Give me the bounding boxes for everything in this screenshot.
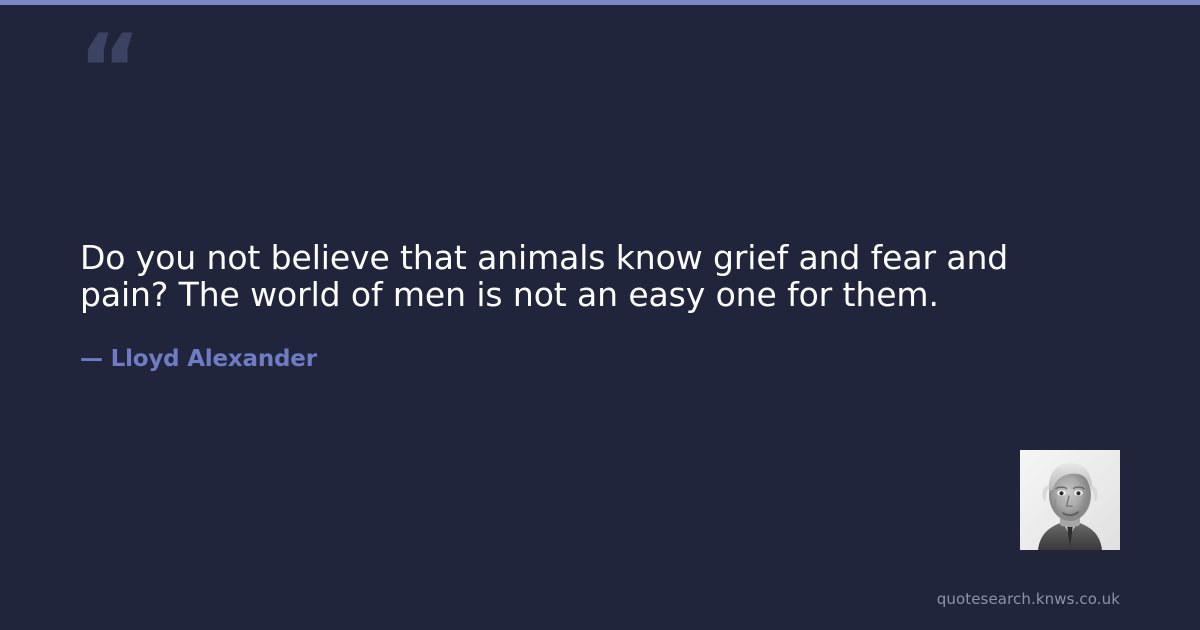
quote-attribution: — Lloyd Alexander	[80, 314, 1010, 372]
author-photo-image	[1020, 450, 1120, 550]
quote-body: Do you not believe that animals know gri…	[80, 240, 1010, 372]
author-portrait	[1020, 450, 1120, 550]
quote-text: Do you not believe that animals know gri…	[80, 240, 1010, 314]
quote-card: “ Do you not believe that animals know g…	[0, 0, 1200, 630]
source-watermark: quotesearch.knws.co.uk	[937, 590, 1120, 608]
top-accent-bar	[0, 0, 1200, 5]
open-quote-icon: “	[78, 22, 139, 118]
